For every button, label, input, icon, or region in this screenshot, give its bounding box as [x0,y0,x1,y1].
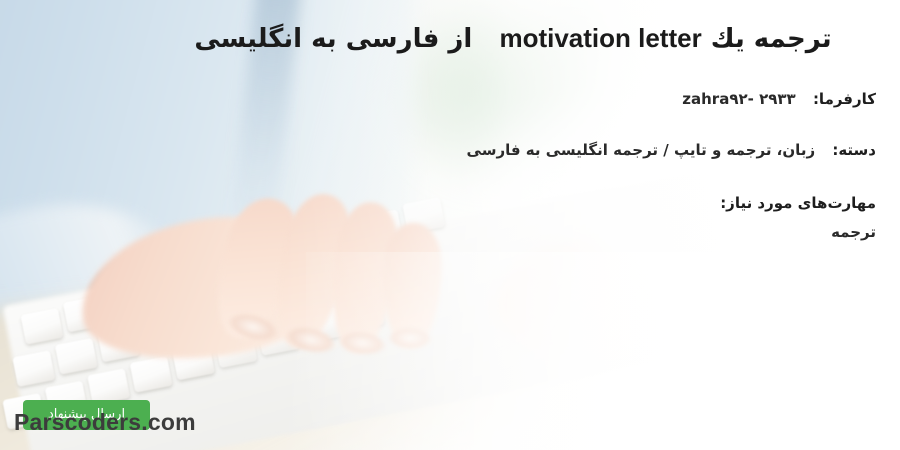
employer-value[interactable]: zahra۹۲- ۲۹۳۳ [682,90,795,108]
page-title: ترجمه يك motivation letter از فارسی به ا… [150,22,876,56]
skills-row: مهارت‌های مورد نیاز: [24,194,876,212]
employer-label: کارفرما: [813,90,876,108]
skills-label: مهارت‌های مورد نیاز: [720,194,876,212]
content-overlay: ترجمه يك motivation letter از فارسی به ا… [0,0,900,450]
site-logo-text: Parscoders.com [14,409,196,436]
category-label: دسته: [832,141,876,159]
category-row: دسته: زبان، ترجمه و تایپ / ترجمه انگلیسی… [24,141,876,159]
page-title-latin: motivation letter [499,23,701,53]
skills-value[interactable]: ترجمه [24,223,876,241]
project-banner: * = O L K [0,0,900,450]
category-value[interactable]: زبان، ترجمه و تایپ / ترجمه انگلیسی به فا… [467,141,816,159]
employer-row: کارفرما: zahra۹۲- ۲۹۳۳ [24,90,876,108]
page-title-prefix: ترجمه يك [711,24,832,54]
page-title-suffix: از فارسی به انگلیسی [194,24,472,54]
